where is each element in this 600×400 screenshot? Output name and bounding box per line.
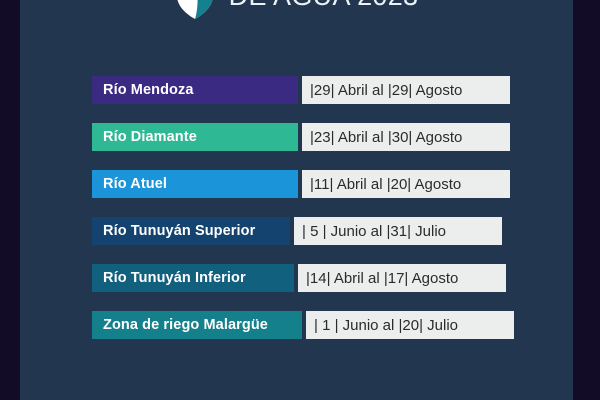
poster-right-border <box>573 0 600 400</box>
river-label-rio-diamante[interactable]: Río Diamante <box>92 123 298 151</box>
river-label-rio-tunuyan-inferior[interactable]: Río Tunuyán Inferior <box>92 264 294 292</box>
date-range-text: | 5 | Junio al |31| Julio <box>302 223 446 240</box>
river-name: Río Atuel <box>103 176 167 192</box>
date-range-rio-tunuyan-superior[interactable]: | 5 | Junio al |31| Julio <box>294 217 502 245</box>
list-item: Río Tunuyán Inferior |14| Abril al |17| … <box>92 264 512 292</box>
river-name: Zona de riego Malargüe <box>103 317 268 333</box>
list-item: Río Tunuyán Superior | 5 | Junio al |31|… <box>92 217 512 245</box>
list-item: Río Atuel |11| Abril al |20| Agosto <box>92 170 512 198</box>
list-item: Zona de riego Malargüe | 1 | Junio al |2… <box>92 311 512 339</box>
list-item: Río Mendoza |29| Abril al |29| Agosto <box>92 76 512 104</box>
river-label-rio-atuel[interactable]: Río Atuel <box>92 170 298 198</box>
date-range-text: |11| Abril al |20| Agosto <box>310 176 461 193</box>
page-title: DE AGUA 2023 <box>229 0 419 10</box>
date-range-text: | 1 | Junio al |20| Julio <box>314 317 458 334</box>
date-range-text: |29| Abril al |29| Agosto <box>310 82 462 99</box>
list-item: Río Diamante |23| Abril al |30| Agosto <box>92 123 512 151</box>
date-range-text: |14| Abril al |17| Agosto <box>306 270 458 287</box>
poster-left-border <box>0 0 20 400</box>
river-label-rio-tunuyan-superior[interactable]: Río Tunuyán Superior <box>92 217 290 245</box>
river-label-rio-mendoza[interactable]: Río Mendoza <box>92 76 298 104</box>
poster-header: DE AGUA 2023 <box>20 0 573 22</box>
poster-canvas: DE AGUA 2023 Río Mendoza |29| Abril al |… <box>20 0 573 400</box>
date-range-rio-atuel[interactable]: |11| Abril al |20| Agosto <box>302 170 510 198</box>
river-name: Río Mendoza <box>103 82 194 98</box>
date-range-rio-tunuyan-inferior[interactable]: |14| Abril al |17| Agosto <box>298 264 506 292</box>
poster-stage: DE AGUA 2023 Río Mendoza |29| Abril al |… <box>0 0 600 400</box>
schedule-list: Río Mendoza |29| Abril al |29| Agosto Rí… <box>92 76 512 339</box>
date-range-zona-de-riego-malargue[interactable]: | 1 | Junio al |20| Julio <box>306 311 514 339</box>
river-name: Río Tunuyán Superior <box>103 223 255 239</box>
date-range-rio-diamante[interactable]: |23| Abril al |30| Agosto <box>302 123 510 151</box>
river-label-zona-de-riego-malargue[interactable]: Zona de riego Malargüe <box>92 311 302 339</box>
date-range-rio-mendoza[interactable]: |29| Abril al |29| Agosto <box>302 76 510 104</box>
date-range-text: |23| Abril al |30| Agosto <box>310 129 462 146</box>
river-name: Río Tunuyán Inferior <box>103 270 246 286</box>
water-shield-droplet-logo <box>175 0 215 20</box>
river-name: Río Diamante <box>103 129 197 145</box>
